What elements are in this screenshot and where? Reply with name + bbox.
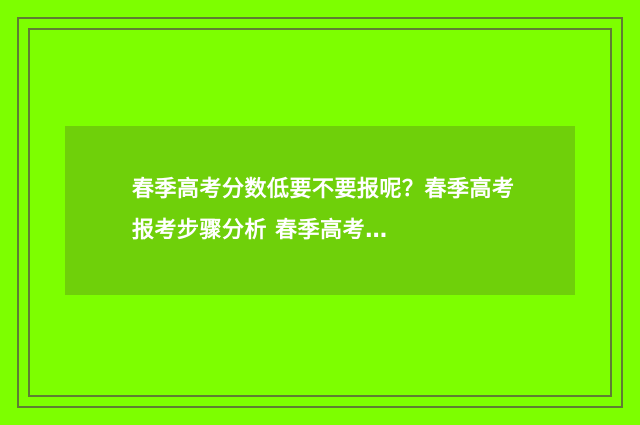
thumbnail-card: 春季高考分数低要不要报呢？春季高考报考步骤分析 春季高考… xyxy=(0,0,640,425)
headline-panel: 春季高考分数低要不要报呢？春季高考报考步骤分析 春季高考… xyxy=(65,126,575,295)
headline-text: 春季高考分数低要不要报呢？春季高考报考步骤分析 春季高考… xyxy=(65,170,575,251)
